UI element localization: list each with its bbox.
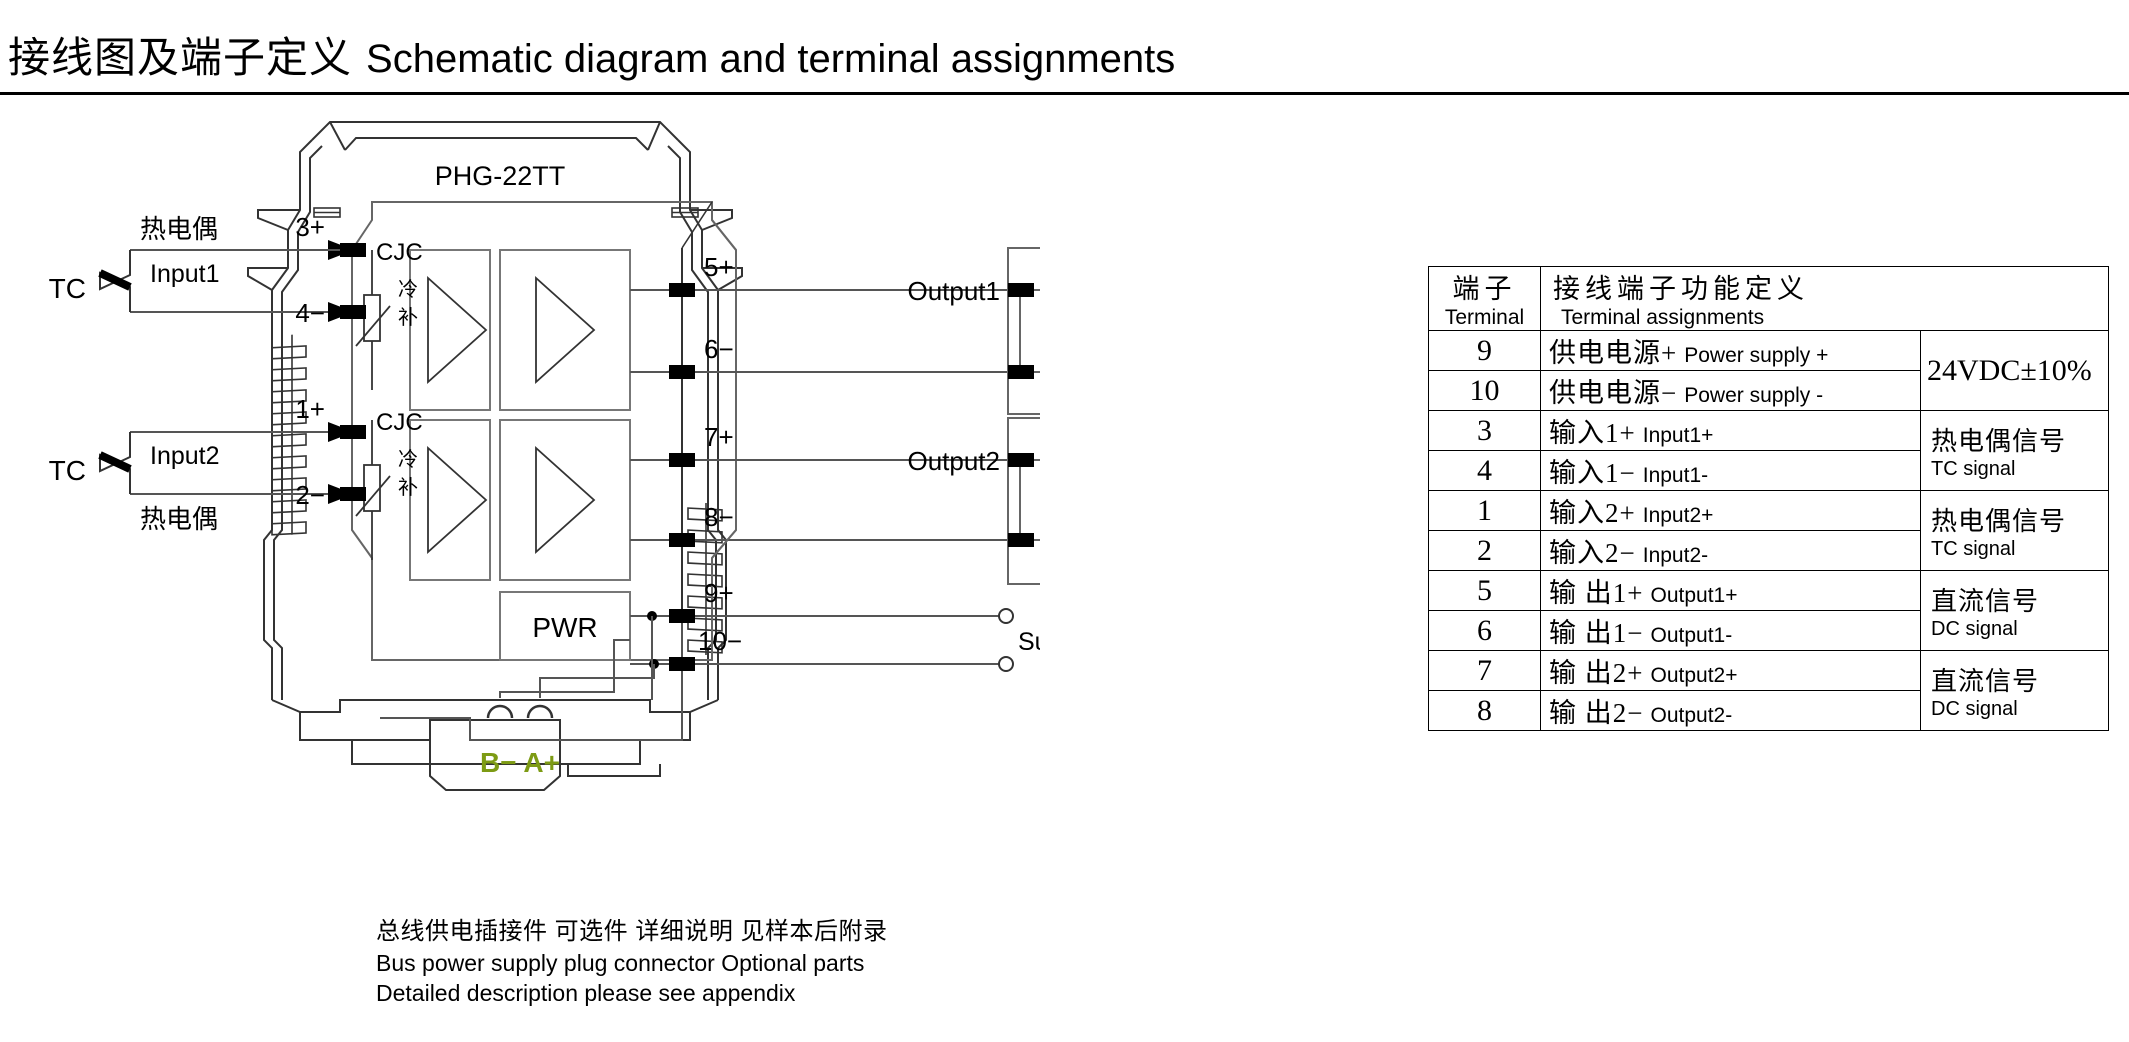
definition-en: Output2+ xyxy=(1643,664,1737,687)
signal-type-en: DC signal xyxy=(1931,698,2100,721)
cjc1-label: CJC xyxy=(376,239,423,266)
definition-en: Output1+ xyxy=(1643,584,1737,607)
definition-cn: 输 出2+ xyxy=(1549,658,1643,688)
terminal-number: 3 xyxy=(1429,411,1541,451)
signal-type-cn: 直流信号 xyxy=(1931,661,2100,698)
terminal-right-5: 5+ xyxy=(704,252,734,282)
model-name: PHG-22TT xyxy=(435,161,566,191)
signal-type-en: DC signal xyxy=(1931,618,2100,641)
tc2-symbol-label: TC xyxy=(49,455,86,486)
terminal-number: 9 xyxy=(1429,331,1541,371)
table-row: 3输入1+Input1+热电偶信号TC signal xyxy=(1429,411,2109,451)
title-divider xyxy=(0,92,2129,95)
signal-type-en: TC signal xyxy=(1931,538,2100,561)
header-terminal: 端子 Terminal xyxy=(1429,267,1541,331)
terminal-definition: 输入1−Input1- xyxy=(1541,451,1921,491)
terminal-assignments-table: 端子 Terminal 接线端子功能定义 Terminal assignment… xyxy=(1428,266,2108,731)
definition-en: Input2- xyxy=(1636,544,1708,567)
terminal-definition: 供电电源−Power supply - xyxy=(1541,371,1921,411)
page-title-en: Schematic diagram and terminal assignmen… xyxy=(366,37,1175,82)
supply-power-text: Supply power 24VDC xyxy=(1018,628,1040,656)
terminal-definition: 输入1+Input1+ xyxy=(1541,411,1921,451)
terminal-right-6: 6− xyxy=(704,334,734,364)
definition-cn: 供电电源+ xyxy=(1549,338,1677,368)
terminal-number: 2 xyxy=(1429,531,1541,571)
definition-cn: 输入2− xyxy=(1549,538,1636,568)
definition-cn: 供电电源− xyxy=(1549,378,1677,408)
signal-type: 直流信号DC signal xyxy=(1921,651,2109,731)
output2-name: Output2 xyxy=(907,446,1000,476)
input2-cn-label: 热电偶 xyxy=(140,504,218,534)
cjc2-cn-2: 补 xyxy=(398,476,418,499)
terminal-number: 1 xyxy=(1429,491,1541,531)
signal-type: 24VDC±10% xyxy=(1921,331,2109,411)
terminal-left-4: 4− xyxy=(295,298,325,328)
terminal-definition: 输入2+Input2+ xyxy=(1541,491,1921,531)
definition-en: Power supply - xyxy=(1677,384,1823,407)
cjc1-cn-1: 冷 xyxy=(398,278,418,301)
signal-type: 直流信号DC signal xyxy=(1921,571,2109,651)
table-row: 7输 出2+Output2+直流信号DC signal xyxy=(1429,651,2109,691)
terminal-definition: 输入2−Input2- xyxy=(1541,531,1921,571)
input1-name: Input1 xyxy=(150,260,220,288)
output1-name: Output1 xyxy=(907,276,1000,306)
definition-en: Output1- xyxy=(1643,624,1732,647)
diagram-caption: 总线供电插接件 可选件 详细说明 见样本后附录 Bus power supply… xyxy=(376,916,888,1009)
definition-cn: 输 出1− xyxy=(1549,618,1643,648)
signal-type-cn: 直流信号 xyxy=(1931,581,2100,618)
terminal-number: 5 xyxy=(1429,571,1541,611)
terminal-number: 4 xyxy=(1429,451,1541,491)
input2-name: Input2 xyxy=(150,442,220,470)
terminal-right-7: 7+ xyxy=(704,422,734,452)
caption-en-2: Detailed description please see appendix xyxy=(376,978,888,1009)
terminal-definition: 输 出2+Output2+ xyxy=(1541,651,1921,691)
bus-ab-label: B− A+ xyxy=(480,747,560,778)
cjc2-label: CJC xyxy=(376,409,423,436)
cjc2-cn-1: 冷 xyxy=(398,448,418,471)
table-row: 1输入2+Input2+热电偶信号TC signal xyxy=(1429,491,2109,531)
terminal-number: 10 xyxy=(1429,371,1541,411)
terminal-right-8: 8− xyxy=(704,502,734,532)
terminal-definition: 输 出1+Output1+ xyxy=(1541,571,1921,611)
definition-en: Power supply + xyxy=(1677,344,1828,367)
terminal-definition: 输 出2−Output2- xyxy=(1541,691,1921,731)
terminal-left-3: 3+ xyxy=(295,212,325,242)
terminal-left-2: 2− xyxy=(295,480,325,510)
cjc1-cn-2: 补 xyxy=(398,306,418,329)
terminal-number: 6 xyxy=(1429,611,1541,651)
signal-type-en: TC signal xyxy=(1931,458,2100,481)
definition-cn: 输入1+ xyxy=(1549,418,1636,448)
page-title: 接线图及端子定义 Schematic diagram and terminal … xyxy=(8,24,1175,85)
page-title-cn: 接线图及端子定义 xyxy=(8,24,352,85)
caption-en-1: Bus power supply plug connector Optional… xyxy=(376,948,888,979)
terminal-left-1: 1+ xyxy=(295,394,325,424)
table-row: 5输 出1+Output1+直流信号DC signal xyxy=(1429,571,2109,611)
input1-cn-label: 热电偶 xyxy=(140,214,218,244)
definition-en: Input1- xyxy=(1636,464,1708,487)
terminal-right-9: 9+ xyxy=(704,578,734,608)
signal-type: 热电偶信号TC signal xyxy=(1921,411,2109,491)
signal-type: 热电偶信号TC signal xyxy=(1921,491,2109,571)
tc1-symbol-label: TC xyxy=(49,273,86,304)
wiring-diagram: PHG-22TT CJC 冷 补 CJC 冷 补 PWR 3+ 4− 1+ 2−… xyxy=(0,100,1040,920)
terminal-right-10: 10− xyxy=(698,626,742,656)
definition-en: Output2- xyxy=(1643,704,1732,727)
terminal-number: 8 xyxy=(1429,691,1541,731)
definition-cn: 输 出1+ xyxy=(1549,578,1643,608)
caption-cn: 总线供电插接件 可选件 详细说明 见样本后附录 xyxy=(376,916,888,948)
terminal-definition: 供电电源+Power supply + xyxy=(1541,331,1921,371)
table-row: 9供电电源+Power supply +24VDC±10% xyxy=(1429,331,2109,371)
pwr-block: PWR xyxy=(532,612,597,643)
schematic-page: 接线图及端子定义 Schematic diagram and terminal … xyxy=(0,0,2129,1042)
definition-cn: 输入2+ xyxy=(1549,498,1636,528)
signal-type-cn: 热电偶信号 xyxy=(1931,501,2100,538)
terminal-definition: 输 出1−Output1- xyxy=(1541,611,1921,651)
definition-cn: 输入1− xyxy=(1549,458,1636,488)
definition-en: Input1+ xyxy=(1636,424,1714,447)
terminal-number: 7 xyxy=(1429,651,1541,691)
header-assignments: 接线端子功能定义 Terminal assignments xyxy=(1541,267,2109,331)
signal-type-cn: 热电偶信号 xyxy=(1931,421,2100,458)
definition-cn: 输 出2− xyxy=(1549,698,1643,728)
table-header-row: 端子 Terminal 接线端子功能定义 Terminal assignment… xyxy=(1429,267,2109,331)
definition-en: Input2+ xyxy=(1636,504,1714,527)
